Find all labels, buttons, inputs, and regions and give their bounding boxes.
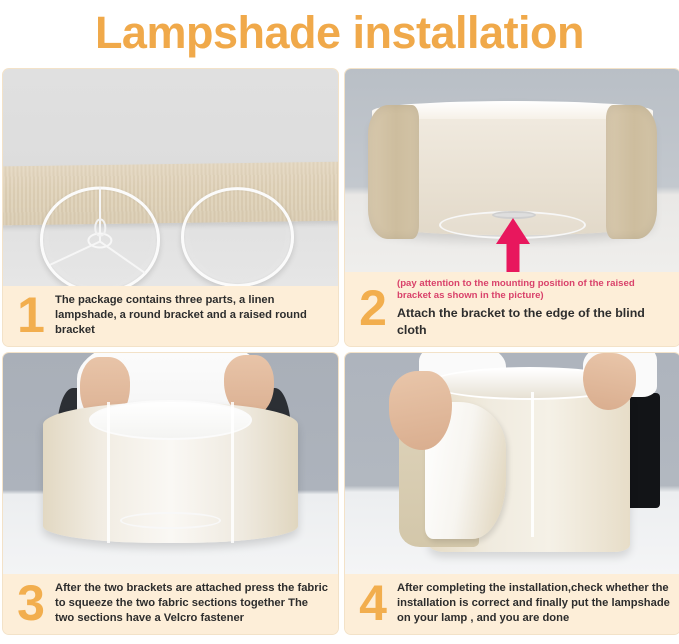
step-number-4: 4 <box>353 582 393 625</box>
step-3-caption: 3 After the two brackets are attached pr… <box>3 574 338 634</box>
step-1-description: The package contains three parts, a line… <box>55 293 329 339</box>
step-4-caption: 4 After completing the installation,chec… <box>345 574 679 634</box>
page-title: Lampshade installation <box>95 10 584 55</box>
lampshade-cylinder-shape <box>43 402 298 543</box>
step-4-text-block: After completing the installation,check … <box>397 581 671 627</box>
lampshade-installation-infographic: Lampshade installation 1 The package <box>0 0 679 644</box>
fabric-seam-right <box>231 402 234 543</box>
step-number-2: 2 <box>353 287 393 330</box>
step-number-3: 3 <box>11 582 51 625</box>
page-title-bar: Lampshade installation <box>0 0 679 68</box>
raised-bracket-shape <box>40 187 161 286</box>
step-1-caption: 1 The package contains three parts, a li… <box>3 286 338 346</box>
step-card-2: 2 (pay attention to the mounting positio… <box>344 68 679 347</box>
shade-inner-rim-shape <box>89 400 252 440</box>
shade-end-right-shape <box>606 105 656 239</box>
step-4-photo <box>345 353 679 574</box>
step-4-description: After completing the installation,check … <box>397 581 671 627</box>
fabric-seam <box>531 392 534 537</box>
step-3-photo <box>3 353 338 574</box>
step-3-text-block: After the two brackets are attached pres… <box>55 581 329 627</box>
step-2-photo <box>345 69 679 272</box>
step-1-text-block: The package contains three parts, a line… <box>55 293 329 339</box>
pink-up-arrow-icon <box>496 218 530 272</box>
step-2-text-block: (pay attention to the mounting position … <box>397 278 671 339</box>
step-card-1: 1 The package contains three parts, a li… <box>2 68 339 347</box>
arrow-stem-shape <box>506 240 519 272</box>
step-3-description: After the two brackets are attached pres… <box>55 581 329 627</box>
step-card-4: 4 After completing the installation,chec… <box>344 352 679 635</box>
step-number-1: 1 <box>11 294 51 337</box>
steps-grid: 1 The package contains three parts, a li… <box>0 68 679 635</box>
bottom-bracket-shape <box>120 512 222 529</box>
step-card-3: 3 After the two brackets are attached pr… <box>2 352 339 635</box>
step-1-photo <box>3 69 338 286</box>
round-bracket-shape <box>181 187 295 286</box>
step-2-note: (pay attention to the mounting position … <box>397 278 671 303</box>
bracket-loop-shape <box>94 218 105 236</box>
step-2-description: Attach the bracket to the edge of the bl… <box>397 305 671 339</box>
shade-end-left-shape <box>368 105 418 239</box>
fabric-seam-left <box>107 402 110 543</box>
step-2-caption: 2 (pay attention to the mounting positio… <box>345 272 679 346</box>
